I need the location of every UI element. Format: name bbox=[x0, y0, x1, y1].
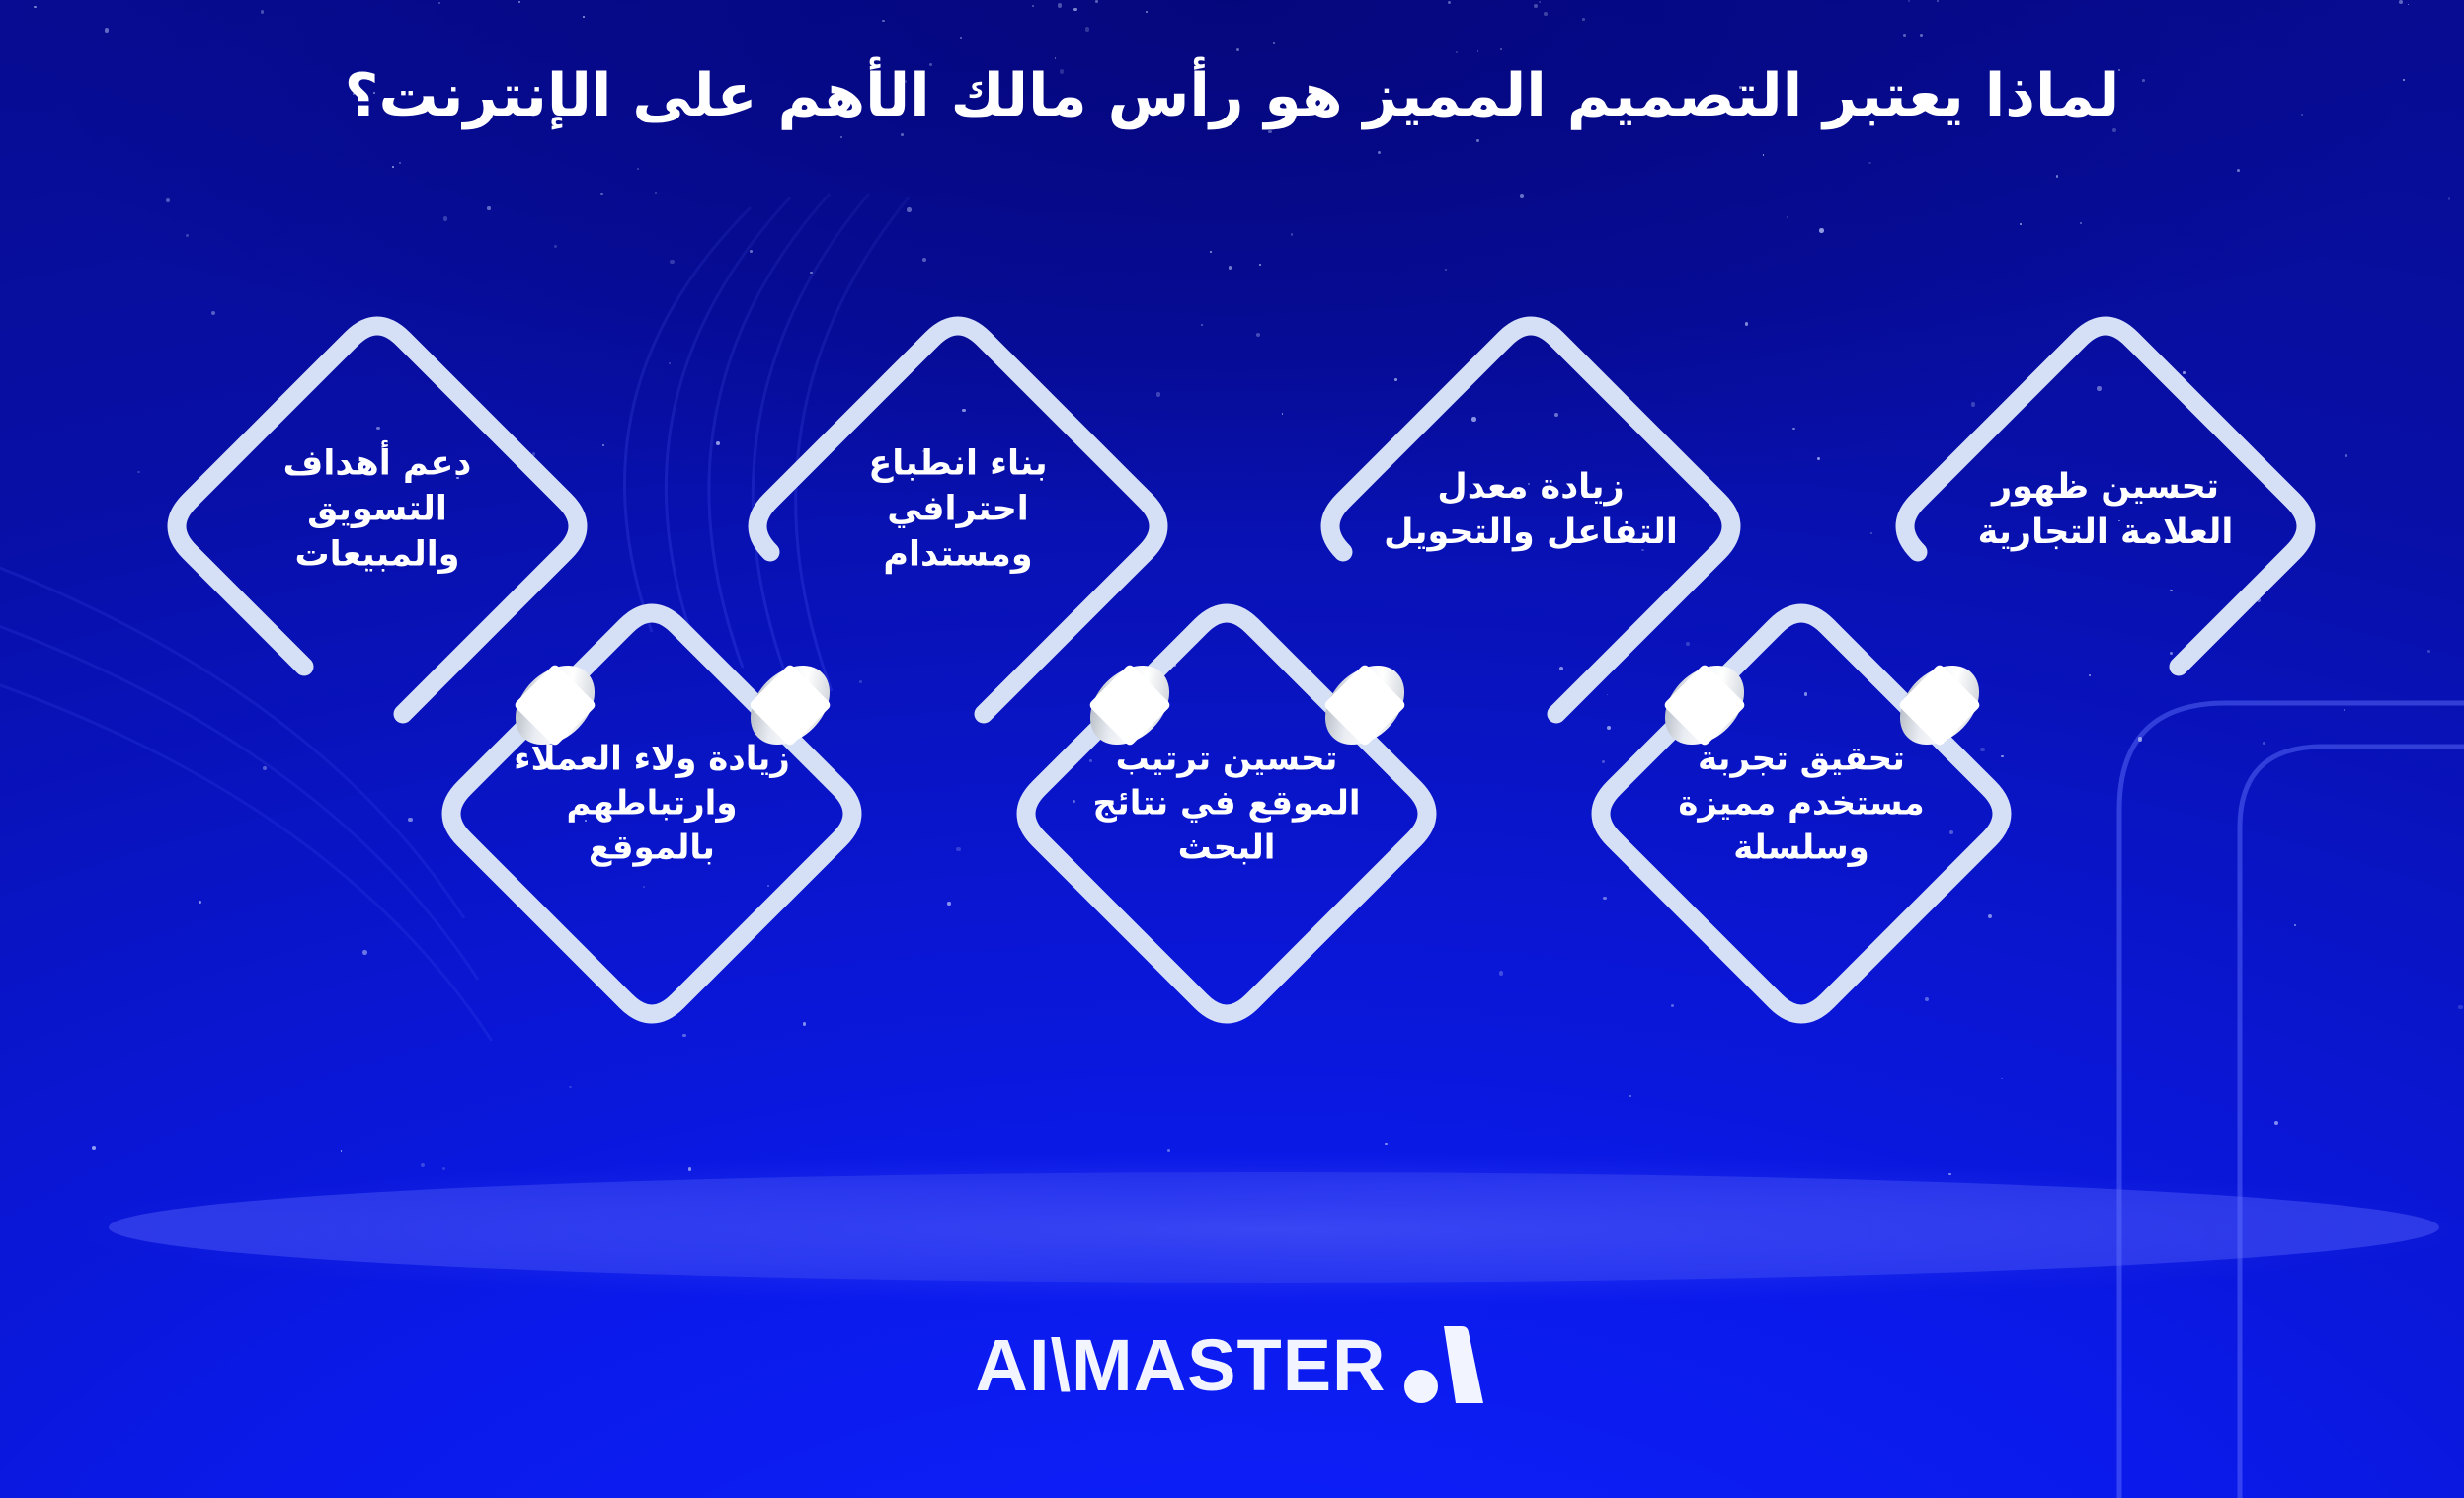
diamond-frame bbox=[1578, 581, 2025, 1027]
diamond-connector-knot-6 bbox=[1886, 652, 1993, 758]
diamond-connector-knot-2 bbox=[737, 652, 843, 758]
diamond-frame bbox=[429, 581, 875, 1027]
diamond-connector-knot-3 bbox=[1076, 652, 1183, 758]
page-title: لماذا يعتبر التصميم المميز هو رأس مالك ا… bbox=[0, 59, 2464, 133]
infographic-canvas: لماذا يعتبر التصميم المميز هو رأس مالك ا… bbox=[0, 0, 2464, 1498]
diamond-connector-knot-4 bbox=[1311, 652, 1418, 758]
diamond-improve-search-ranking[interactable]: تحسين ترتيب الموقع في نتائج البحث bbox=[1003, 581, 1450, 1027]
aimaster-dot-slash-icon bbox=[1404, 1324, 1489, 1407]
brand-wordmark: AI\MASTER bbox=[976, 1329, 1387, 1402]
diamond-chain: دعم أهداف التسويق والمبيعات بناء انطباع … bbox=[0, 0, 2464, 1284]
diamond-connector-knot-1 bbox=[502, 652, 608, 758]
diamond-connector-knot-5 bbox=[1651, 652, 1758, 758]
diamond-increase-customer-loyalty[interactable]: زيادة ولاء العملاء وارتباطهم بالموقع bbox=[429, 581, 875, 1027]
brand-logo: AI\MASTER bbox=[0, 1324, 2464, 1407]
diamond-achieve-great-user-experience[interactable]: تحقيق تجربة مستخدم مميزة وسلسلة bbox=[1578, 581, 2025, 1027]
diamond-frame bbox=[1003, 581, 1450, 1027]
